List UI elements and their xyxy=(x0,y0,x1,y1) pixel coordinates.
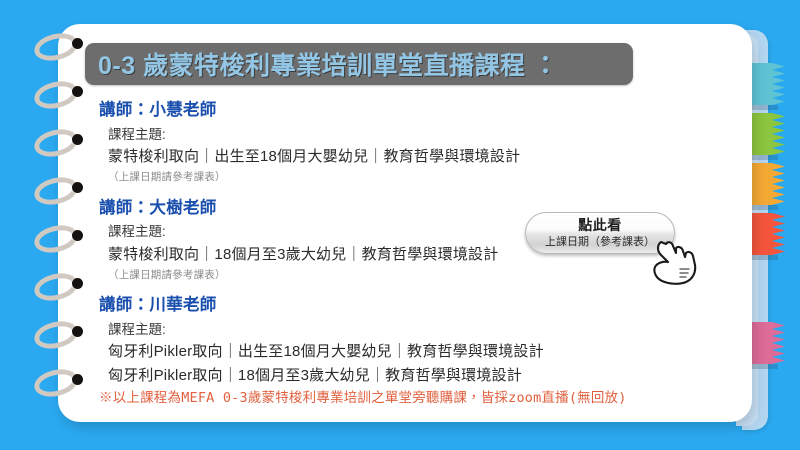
page-title: 0-3 歲蒙特梭利專業培訓單堂直播課程 ： xyxy=(98,46,559,82)
tab-green[interactable] xyxy=(748,113,784,155)
course-topic-line: 匈牙利Pikler取向｜出生至18個月大嬰幼兒｜教育哲學與環境設計 xyxy=(108,340,659,364)
subject-label: 課程主題: xyxy=(108,124,659,145)
course-section: 講師：川華老師課程主題:匈牙利Pikler取向｜出生至18個月大嬰幼兒｜教育哲學… xyxy=(99,293,659,388)
tab-torn-edge-icon xyxy=(772,322,785,364)
teacher-name: 講師：川華老師 xyxy=(99,293,659,319)
poster-canvas: 0-3 歲蒙特梭利專業培訓單堂直播課程 ： 講師：小慧老師課程主題:蒙特梭利取向… xyxy=(0,0,800,450)
tab-shadow xyxy=(748,364,778,369)
cta-sub-label: 上課日期（參考課表） xyxy=(545,235,655,249)
tab-shadow xyxy=(748,255,778,260)
course-detail-block: 課程主題:蒙特梭利取向｜出生至18個月大嬰幼兒｜教育哲學與環境設計（上課日期請參… xyxy=(99,124,659,187)
schedule-reference-note: （上課日期請參考課表） xyxy=(108,169,659,187)
tab-torn-edge-icon xyxy=(772,63,785,105)
cta-main-label: 點此看 xyxy=(578,217,622,234)
course-topic-line: 匈牙利Pikler取向｜18個月至3歲大幼兒｜教育哲學與環境設計 xyxy=(108,364,659,388)
schedule-reference-note: （上課日期請參考課表） xyxy=(108,267,659,285)
tab-torn-edge-icon xyxy=(772,213,785,255)
view-schedule-button[interactable]: 點此看 上課日期（參考課表） xyxy=(525,212,675,254)
tab-shadow xyxy=(748,205,778,210)
tab-pink[interactable] xyxy=(748,322,784,364)
tab-orange[interactable] xyxy=(748,163,784,205)
course-detail-block: 課程主題:匈牙利Pikler取向｜出生至18個月大嬰幼兒｜教育哲學與環境設計匈牙… xyxy=(99,319,659,388)
tab-torn-edge-icon xyxy=(772,113,785,155)
tab-red[interactable] xyxy=(748,213,784,255)
tab-teal[interactable] xyxy=(748,63,784,105)
tab-torn-edge-icon xyxy=(772,163,785,205)
teacher-name: 講師：小慧老師 xyxy=(99,98,659,124)
course-section: 講師：小慧老師課程主題:蒙特梭利取向｜出生至18個月大嬰幼兒｜教育哲學與環境設計… xyxy=(99,98,659,187)
subject-label: 課程主題: xyxy=(108,319,659,340)
footer-disclaimer: ※以上課程為MEFA 0-3歲蒙特梭利專業培訓之單堂旁聽購課，皆採zoom直播(… xyxy=(99,386,627,406)
page-title-bar: 0-3 歲蒙特梭利專業培訓單堂直播課程 ： xyxy=(85,43,633,85)
tab-shadow xyxy=(748,105,778,110)
course-topic-line: 蒙特梭利取向｜出生至18個月大嬰幼兒｜教育哲學與環境設計 xyxy=(108,145,659,169)
tab-shadow xyxy=(748,155,778,160)
